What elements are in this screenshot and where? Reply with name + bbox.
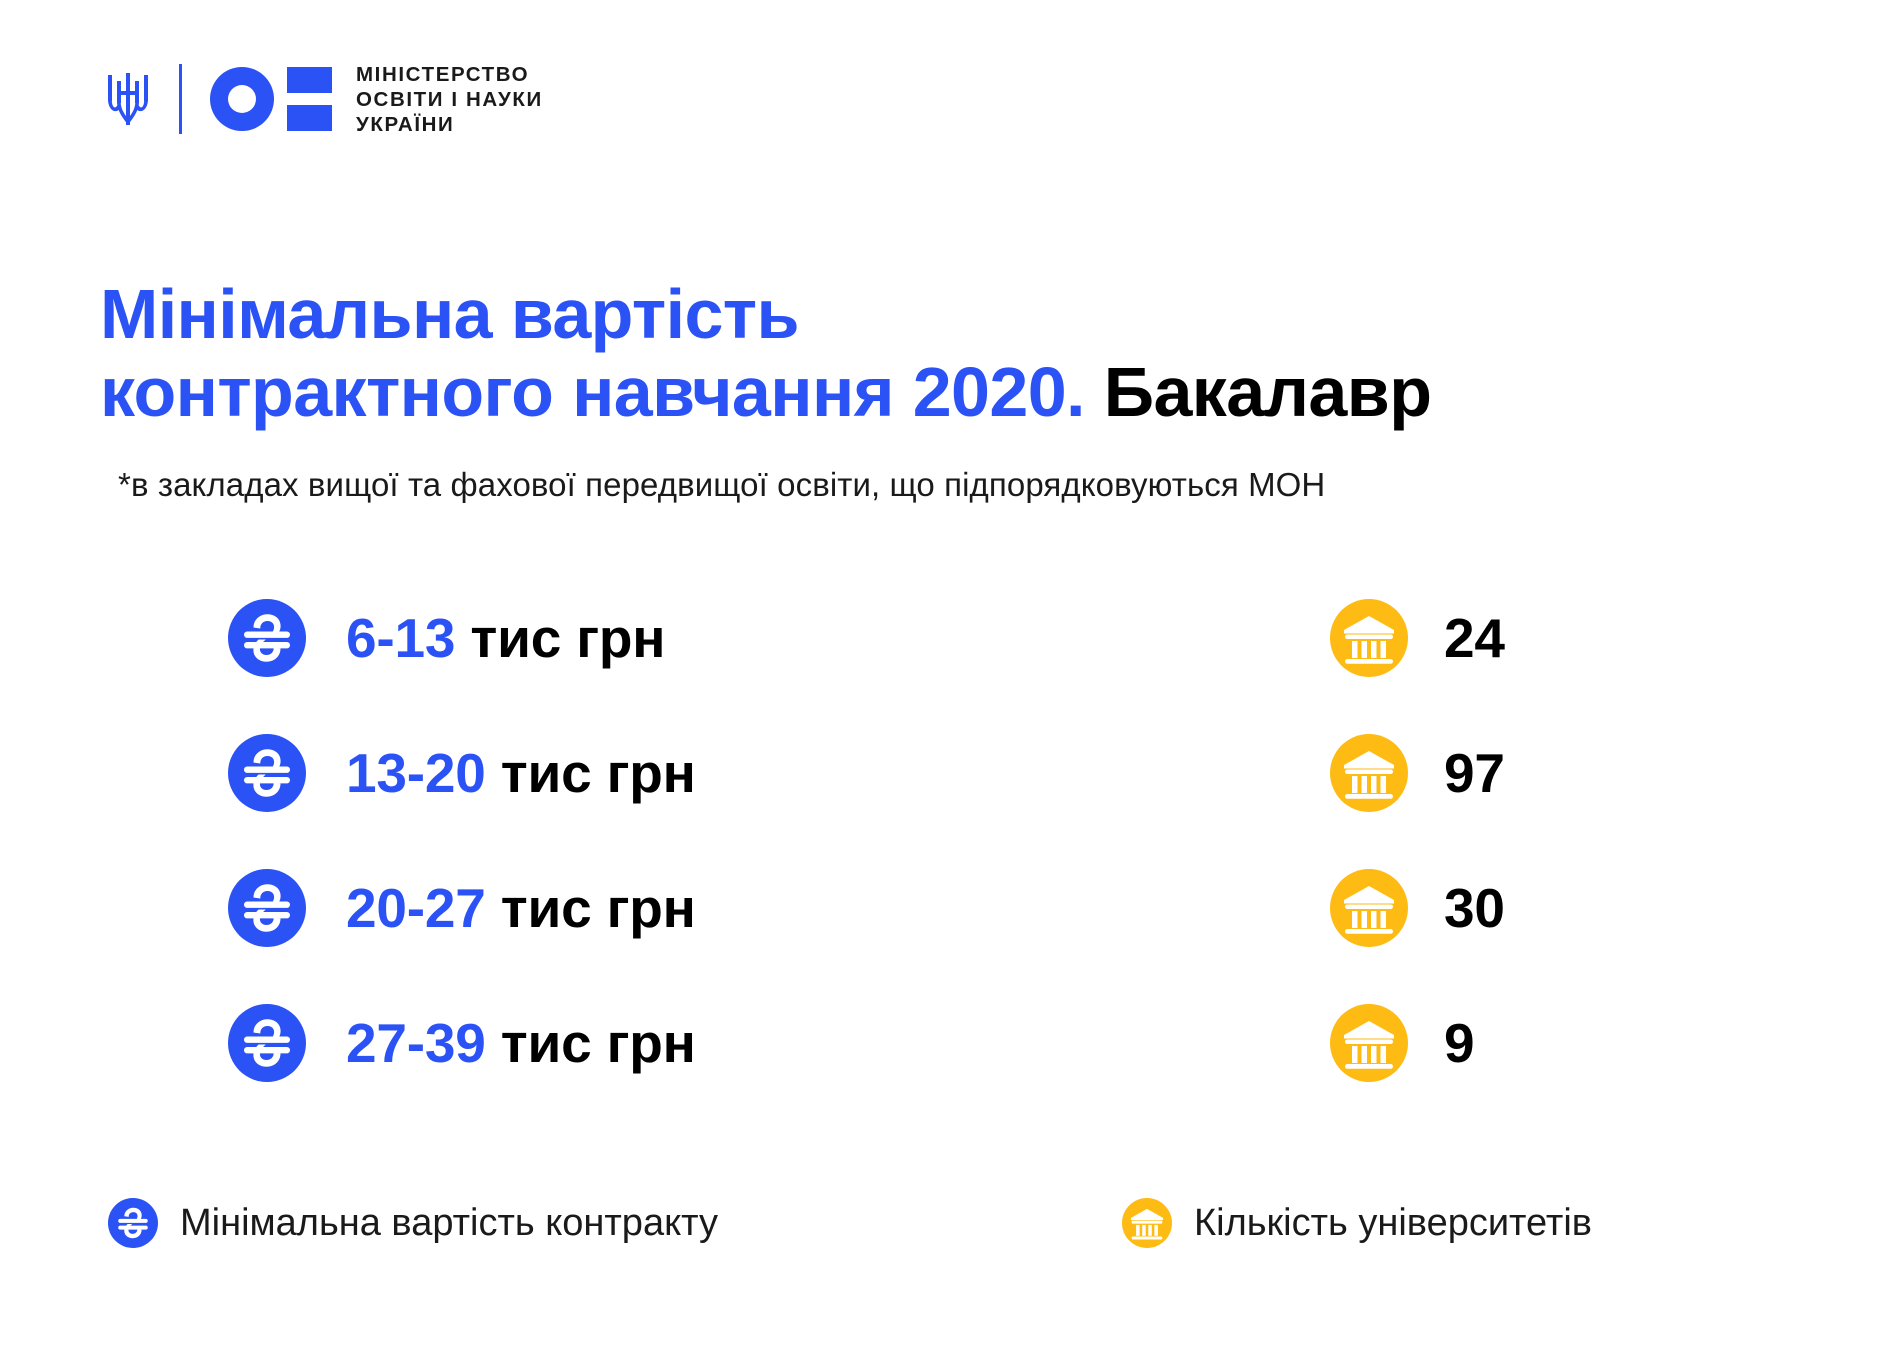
count-cell: 9 xyxy=(1330,1004,1534,1082)
bank-icon xyxy=(1330,599,1408,677)
count-value: 24 xyxy=(1444,606,1534,670)
title-line-2-degree: Бакалавр xyxy=(1104,353,1432,431)
count-cell: 24 xyxy=(1330,599,1534,677)
bank-icon xyxy=(1330,734,1408,812)
mon-circle-icon xyxy=(210,67,274,131)
hryvnia-icon xyxy=(228,599,306,677)
table-row: 27-39 тис грн 9 xyxy=(0,975,1901,1110)
bank-icon xyxy=(1330,1004,1408,1082)
data-rows: 6-13 тис грн 24 xyxy=(0,570,1901,1110)
cost-value: 13-20 тис грн xyxy=(346,741,696,805)
cost-range: 20-27 xyxy=(346,877,486,939)
hryvnia-icon xyxy=(228,734,306,812)
cost-value: 6-13 тис грн xyxy=(346,606,665,670)
logo-line-1: МІНІСТЕРСТВО xyxy=(356,62,543,87)
cost-range: 13-20 xyxy=(346,742,486,804)
cost-unit: тис грн xyxy=(501,742,696,804)
cost-value: 27-39 тис грн xyxy=(346,1011,696,1075)
cost-unit: тис грн xyxy=(501,877,696,939)
legend: Мінімальна вартість контракту Кількість … xyxy=(0,1198,1901,1278)
cost-cell: 20-27 тис грн xyxy=(228,869,696,947)
cost-cell: 13-20 тис грн xyxy=(228,734,696,812)
count-cell: 30 xyxy=(1330,869,1534,947)
legend-item-cost: Мінімальна вартість контракту xyxy=(108,1198,718,1248)
count-cell: 97 xyxy=(1330,734,1534,812)
table-row: 20-27 тис грн 30 xyxy=(0,840,1901,975)
legend-label-count: Кількість університетів xyxy=(1194,1202,1592,1245)
page-subtitle: *в закладах вищої та фахової передвищої … xyxy=(118,466,1325,504)
cost-value: 20-27 тис грн xyxy=(346,876,696,940)
count-value: 97 xyxy=(1444,741,1534,805)
hryvnia-icon xyxy=(228,1004,306,1082)
cost-range: 6-13 xyxy=(346,607,455,669)
title-line-2-blue: контрактного навчання 2020. xyxy=(100,353,1085,431)
cost-unit: тис грн xyxy=(470,607,665,669)
logo-line-3: УКРАЇНИ xyxy=(356,112,543,137)
logo-divider xyxy=(179,64,182,134)
ministry-logo-text: МІНІСТЕРСТВО ОСВІТИ І НАУКИ УКРАЇНИ xyxy=(356,62,543,137)
mon-o-equals-icon xyxy=(210,67,332,131)
cost-cell: 6-13 тис грн xyxy=(228,599,665,677)
hryvnia-icon xyxy=(228,869,306,947)
hryvnia-icon xyxy=(108,1198,158,1248)
ministry-logo: МІНІСТЕРСТВО ОСВІТИ І НАУКИ УКРАЇНИ xyxy=(105,58,543,140)
count-value: 9 xyxy=(1444,1011,1534,1075)
logo-line-2: ОСВІТИ І НАУКИ xyxy=(356,87,543,112)
title-line-1: Мінімальна вартість xyxy=(100,275,799,353)
bank-icon xyxy=(1122,1198,1172,1248)
cost-cell: 27-39 тис грн xyxy=(228,1004,696,1082)
count-value: 30 xyxy=(1444,876,1534,940)
mon-equals-icon xyxy=(287,67,332,131)
ukraine-trident-icon xyxy=(105,67,151,131)
table-row: 6-13 тис грн 24 xyxy=(0,570,1901,705)
legend-item-count: Кількість університетів xyxy=(1122,1198,1592,1248)
cost-range: 27-39 xyxy=(346,1012,486,1074)
cost-unit: тис грн xyxy=(501,1012,696,1074)
bank-icon xyxy=(1330,869,1408,947)
legend-label-cost: Мінімальна вартість контракту xyxy=(180,1202,718,1245)
table-row: 13-20 тис грн 97 xyxy=(0,705,1901,840)
page-title: Мінімальна вартість контрактного навчанн… xyxy=(100,275,1860,432)
